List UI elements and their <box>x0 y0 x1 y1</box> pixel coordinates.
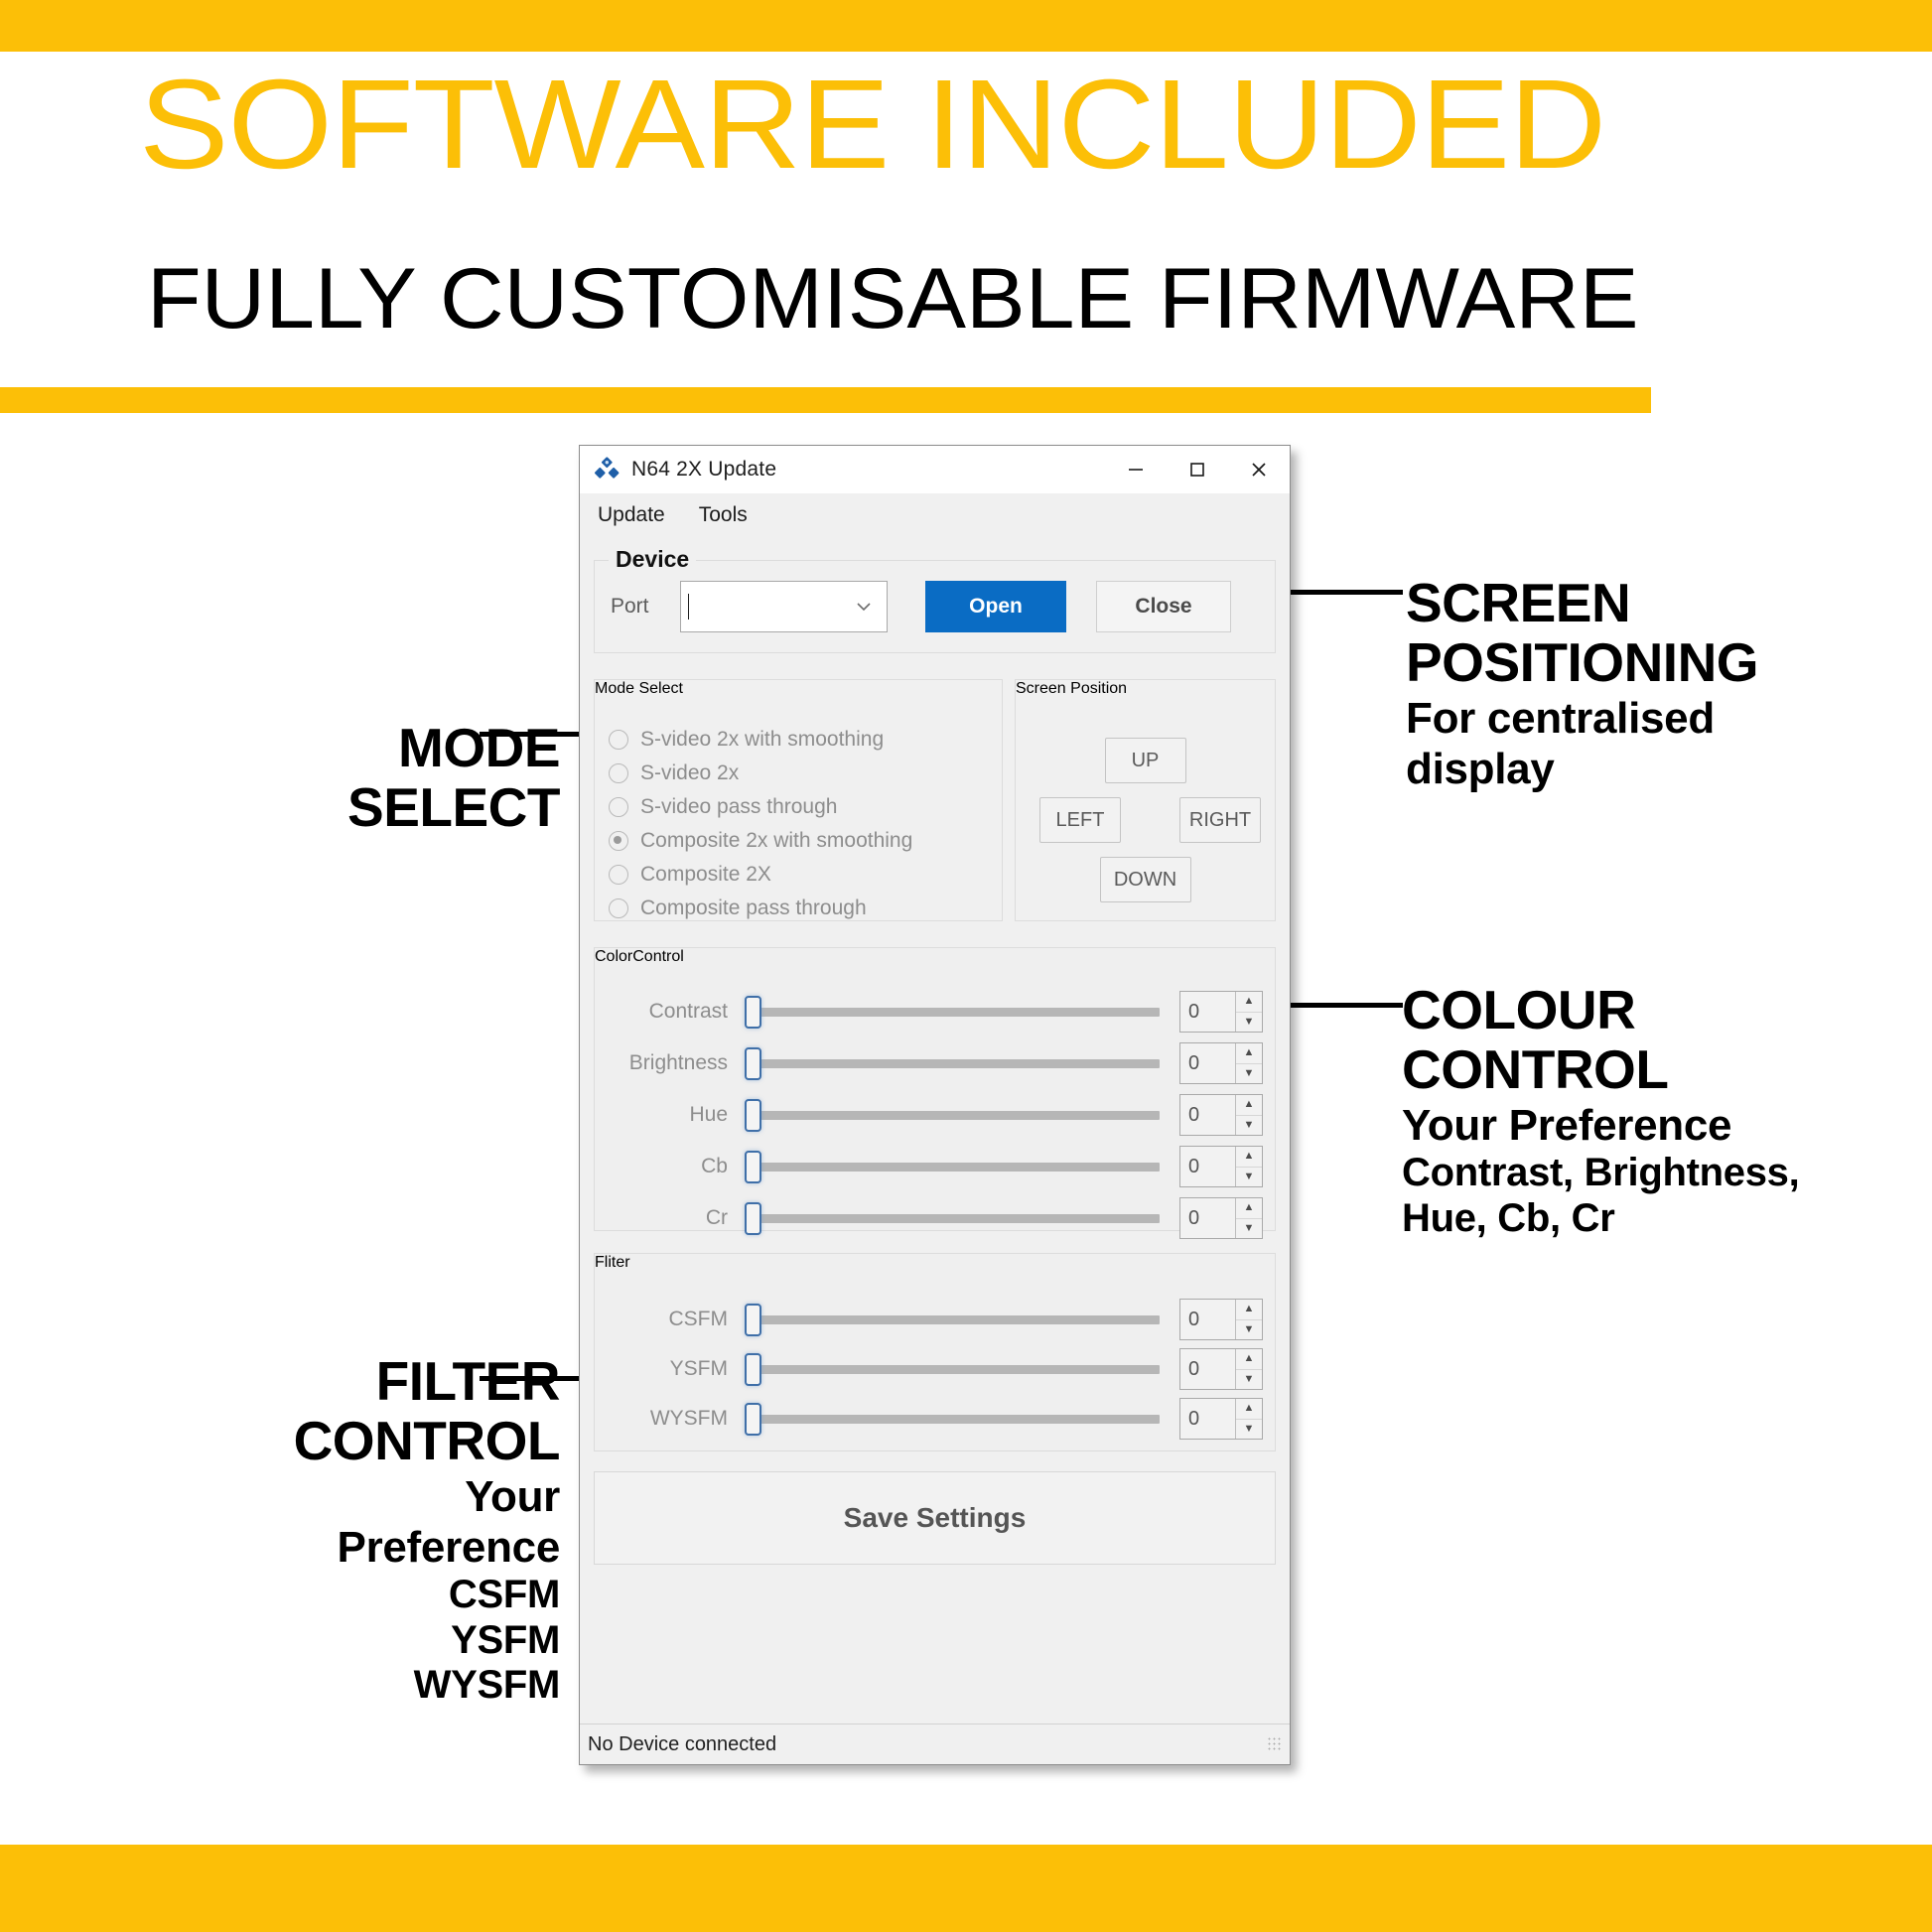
slider-row-ysfm: YSFM 0 ▲▼ <box>595 1347 1275 1391</box>
callout-screen-sub1: For centralised <box>1406 693 1872 744</box>
mode-and-position-row: Mode Select S-video 2x with smoothing S-… <box>594 679 1276 921</box>
callout-screen-sub2: display <box>1406 744 1872 794</box>
spinner-down-icon[interactable]: ▼ <box>1236 1219 1262 1239</box>
spinner-arrows[interactable]: ▲▼ <box>1235 1300 1262 1339</box>
slider-thumb[interactable] <box>745 1304 761 1336</box>
slider-row-csfm: CSFM 0 ▲▼ <box>595 1298 1275 1341</box>
cr-slider[interactable] <box>742 1196 1166 1240</box>
cb-spinner[interactable]: 0 ▲▼ <box>1179 1146 1263 1187</box>
status-bar: No Device connected <box>580 1724 1290 1764</box>
slider-track <box>752 1365 1160 1374</box>
callout-colour-sub3: Hue, Cb, Cr <box>1402 1196 1898 1242</box>
status-text: No Device connected <box>580 1733 1267 1756</box>
spinner-arrows[interactable]: ▲▼ <box>1235 1198 1262 1238</box>
slider-row-wysfm: WYSFM 0 ▲▼ <box>595 1397 1275 1441</box>
callout-filter-item3: WYSFM <box>167 1663 560 1709</box>
spinner-up-icon[interactable]: ▲ <box>1236 1399 1262 1420</box>
ysfm-slider[interactable] <box>742 1347 1166 1391</box>
slider-label: Contrast <box>607 1000 742 1024</box>
chevron-down-icon[interactable] <box>841 582 887 631</box>
slider-label: Cr <box>607 1206 742 1230</box>
hue-spinner[interactable]: 0 ▲▼ <box>1179 1094 1263 1136</box>
device-group-legend: Device <box>609 546 696 573</box>
slider-track <box>752 1163 1160 1172</box>
slider-label: Hue <box>607 1103 742 1127</box>
radio-label: Composite pass through <box>640 897 867 920</box>
slider-thumb[interactable] <box>745 996 761 1029</box>
spinner-up-icon[interactable]: ▲ <box>1236 992 1262 1013</box>
spinner-down-icon[interactable]: ▼ <box>1236 1064 1262 1084</box>
cr-spinner[interactable]: 0 ▲▼ <box>1179 1197 1263 1239</box>
radio-icon <box>609 797 628 817</box>
slider-label: Cb <box>607 1155 742 1178</box>
slider-track <box>752 1059 1160 1068</box>
hue-slider[interactable] <box>742 1093 1166 1137</box>
window-title: N64 2X Update <box>631 458 1105 482</box>
slider-track <box>752 1415 1160 1424</box>
slider-row-hue: Hue 0 ▲▼ <box>595 1093 1275 1137</box>
callout-colour-sub2: Contrast, Brightness, <box>1402 1151 1898 1196</box>
radio-option-svideo-2x[interactable]: S-video 2x <box>609 758 1002 789</box>
slider-track <box>752 1111 1160 1120</box>
spinner-value: 0 <box>1180 1300 1235 1339</box>
slider-label: Brightness <box>607 1051 742 1075</box>
ysfm-spinner[interactable]: 0 ▲▼ <box>1179 1348 1263 1390</box>
header-accent-rule <box>0 387 1651 413</box>
screen-position-down-button[interactable]: DOWN <box>1100 857 1191 902</box>
callout-filter-line2: CONTROL <box>167 1412 560 1471</box>
spinner-up-icon[interactable]: ▲ <box>1236 1198 1262 1219</box>
maximize-icon[interactable] <box>1167 446 1228 493</box>
headline: SOFTWARE INCLUDED <box>139 62 1605 189</box>
screen-position-up-button[interactable]: UP <box>1105 738 1186 783</box>
slider-thumb[interactable] <box>745 1202 761 1235</box>
mode-select-group: Mode Select S-video 2x with smoothing S-… <box>594 679 1003 921</box>
color-control-group: ColorControl Contrast 0 ▲▼ Brightness <box>594 947 1276 1231</box>
callout-mode-select-line1: MODE <box>173 719 560 778</box>
slider-row-cr: Cr 0 ▲▼ <box>595 1196 1275 1240</box>
spinner-value: 0 <box>1180 1349 1235 1389</box>
callout-filter-item2: YSFM <box>167 1618 560 1664</box>
screen-position-right-button[interactable]: RIGHT <box>1179 797 1261 843</box>
contrast-spinner[interactable]: 0 ▲▼ <box>1179 991 1263 1033</box>
spinner-value: 0 <box>1180 1399 1235 1439</box>
resize-grip-icon[interactable] <box>1267 1736 1283 1752</box>
filter-group: Fliter CSFM 0 ▲▼ YSFM <box>594 1253 1276 1451</box>
close-button[interactable]: Close <box>1096 581 1231 632</box>
spinner-down-icon[interactable]: ▼ <box>1236 1013 1262 1033</box>
spinner-up-icon[interactable]: ▲ <box>1236 1300 1262 1320</box>
spinner-arrows[interactable]: ▲▼ <box>1235 1043 1262 1083</box>
spinner-value: 0 <box>1180 992 1235 1032</box>
spinner-value: 0 <box>1180 1147 1235 1186</box>
radio-icon-selected <box>609 831 628 851</box>
radio-option-composite-2x[interactable]: Composite 2X <box>609 859 1002 891</box>
port-select[interactable] <box>680 581 888 632</box>
wysfm-spinner[interactable]: 0 ▲▼ <box>1179 1398 1263 1440</box>
save-settings-button[interactable]: Save Settings <box>594 1471 1276 1565</box>
radio-label: Composite 2X <box>640 863 771 887</box>
radio-option-svideo-pass-through[interactable]: S-video pass through <box>609 791 1002 823</box>
port-label: Port <box>611 595 666 619</box>
mode-select-legend: Mode Select <box>595 680 683 697</box>
callout-mode-select-line2: SELECT <box>173 778 560 838</box>
spinner-arrows[interactable]: ▲▼ <box>1235 1147 1262 1186</box>
filter-group-legend: Fliter <box>595 1254 630 1271</box>
leader-line-screen-positioning <box>1274 590 1403 595</box>
slider-row-brightness: Brightness 0 ▲▼ <box>595 1041 1275 1085</box>
spinner-arrows[interactable]: ▲▼ <box>1235 1349 1262 1389</box>
spinner-down-icon[interactable]: ▼ <box>1236 1420 1262 1440</box>
slider-track <box>752 1315 1160 1324</box>
leader-line-colour-control <box>1274 1003 1403 1008</box>
spinner-down-icon[interactable]: ▼ <box>1236 1116 1262 1136</box>
radio-label: S-video pass through <box>640 795 837 819</box>
close-icon[interactable] <box>1228 446 1290 493</box>
screen-position-legend: Screen Position <box>1016 680 1127 697</box>
spinner-arrows[interactable]: ▲▼ <box>1235 1399 1262 1439</box>
radio-icon <box>609 865 628 885</box>
contrast-slider[interactable] <box>742 990 1166 1034</box>
callout-filter-sub1: Your <box>167 1471 560 1522</box>
slider-label: YSFM <box>607 1357 742 1381</box>
menu-item-tools[interactable]: Tools <box>699 503 748 527</box>
screen-position-left-button[interactable]: LEFT <box>1039 797 1121 843</box>
radio-icon <box>609 763 628 783</box>
spinner-arrows[interactable]: ▲▼ <box>1235 1095 1262 1135</box>
callout-screen-positioning: SCREEN POSITIONING For centralised displ… <box>1406 574 1872 794</box>
slider-label: WYSFM <box>607 1407 742 1431</box>
slider-track <box>752 1214 1160 1223</box>
app-window: N64 2X Update Update Tools Device Port O… <box>579 445 1291 1765</box>
callout-colour-control: COLOUR CONTROL Your Preference Contrast,… <box>1402 981 1898 1241</box>
radio-option-svideo-2x-smoothing[interactable]: S-video 2x with smoothing <box>609 724 1002 756</box>
radio-label: S-video 2x with smoothing <box>640 728 884 752</box>
callout-colour-sub1: Your Preference <box>1402 1100 1898 1151</box>
screen-position-group: Screen Position UP LEFT RIGHT DOWN <box>1015 679 1276 921</box>
radio-option-composite-pass-through[interactable]: Composite pass through <box>609 893 1002 924</box>
brightness-slider[interactable] <box>742 1041 1166 1085</box>
color-control-legend: ColorControl <box>595 948 684 965</box>
brightness-spinner[interactable]: 0 ▲▼ <box>1179 1042 1263 1084</box>
slider-thumb[interactable] <box>745 1353 761 1386</box>
slider-thumb[interactable] <box>745 1047 761 1080</box>
port-text-cursor <box>688 594 689 620</box>
callout-colour-line1: COLOUR <box>1402 981 1898 1040</box>
menu-item-update[interactable]: Update <box>598 503 665 527</box>
radio-option-composite-2x-smoothing[interactable]: Composite 2x with smoothing <box>609 825 1002 857</box>
radio-label: S-video 2x <box>640 761 739 785</box>
callout-filter-line1: FILTER <box>167 1352 560 1412</box>
csfm-slider[interactable] <box>742 1298 1166 1341</box>
wysfm-slider[interactable] <box>742 1397 1166 1441</box>
slider-row-cb: Cb 0 ▲▼ <box>595 1145 1275 1188</box>
callout-filter-sub2: Preference <box>167 1522 560 1573</box>
slider-thumb[interactable] <box>745 1099 761 1132</box>
slider-thumb[interactable] <box>745 1403 761 1436</box>
spinner-down-icon[interactable]: ▼ <box>1236 1370 1262 1390</box>
spinner-down-icon[interactable]: ▼ <box>1236 1320 1262 1340</box>
spinner-up-icon[interactable]: ▲ <box>1236 1043 1262 1064</box>
spinner-value: 0 <box>1180 1198 1235 1238</box>
title-bar: N64 2X Update <box>580 446 1290 494</box>
spinner-value: 0 <box>1180 1095 1235 1135</box>
radio-label: Composite 2x with smoothing <box>640 829 912 853</box>
bottom-accent-bar <box>0 1845 1932 1932</box>
callout-screen-line1: SCREEN <box>1406 574 1872 633</box>
csfm-spinner[interactable]: 0 ▲▼ <box>1179 1299 1263 1340</box>
spinner-arrows[interactable]: ▲▼ <box>1235 992 1262 1032</box>
slider-label: CSFM <box>607 1308 742 1331</box>
slider-track <box>752 1008 1160 1017</box>
radio-icon <box>609 898 628 918</box>
spinner-up-icon[interactable]: ▲ <box>1236 1095 1262 1116</box>
cb-slider[interactable] <box>742 1145 1166 1188</box>
open-button[interactable]: Open <box>925 581 1066 632</box>
slider-thumb[interactable] <box>745 1151 761 1183</box>
top-accent-bar <box>0 0 1932 52</box>
trefoil-diamond-icon <box>594 457 620 483</box>
minimize-icon[interactable] <box>1105 446 1167 493</box>
menu-bar: Update Tools <box>580 494 1290 536</box>
callout-screen-line2: POSITIONING <box>1406 633 1872 693</box>
spinner-up-icon[interactable]: ▲ <box>1236 1349 1262 1370</box>
subheadline: FULLY CUSTOMISABLE FIRMWARE <box>147 256 1639 342</box>
callout-filter-control: FILTER CONTROL Your Preference CSFM YSFM… <box>167 1352 560 1709</box>
device-group: Device Port Open Close <box>594 560 1276 653</box>
callout-colour-line2: CONTROL <box>1402 1040 1898 1100</box>
radio-icon <box>609 730 628 750</box>
slider-row-contrast: Contrast 0 ▲▼ <box>595 990 1275 1034</box>
spinner-value: 0 <box>1180 1043 1235 1083</box>
spinner-up-icon[interactable]: ▲ <box>1236 1147 1262 1168</box>
callout-filter-item1: CSFM <box>167 1573 560 1618</box>
spinner-down-icon[interactable]: ▼ <box>1236 1168 1262 1187</box>
